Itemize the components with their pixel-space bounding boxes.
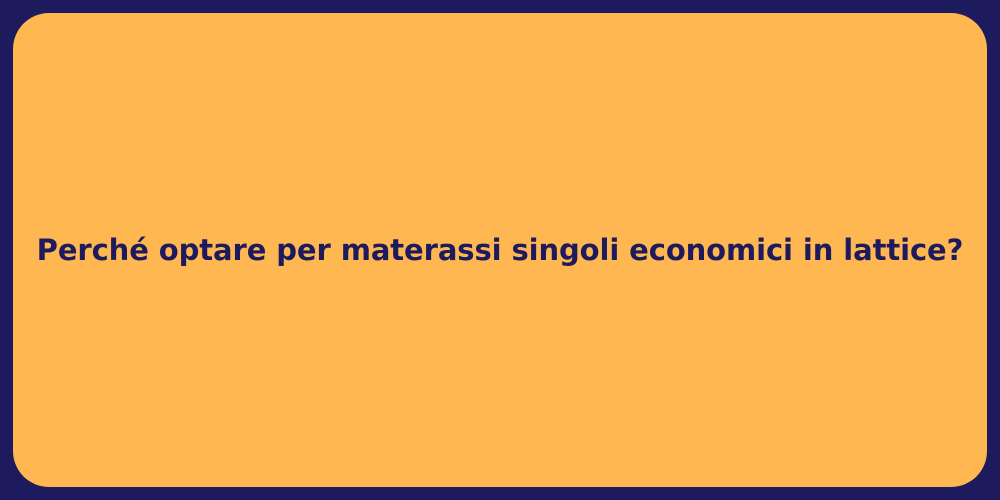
card-heading: Perché optare per materassi singoli econ…	[37, 232, 964, 268]
card-frame: Perché optare per materassi singoli econ…	[0, 0, 1000, 500]
card-panel: Perché optare per materassi singoli econ…	[13, 13, 987, 487]
